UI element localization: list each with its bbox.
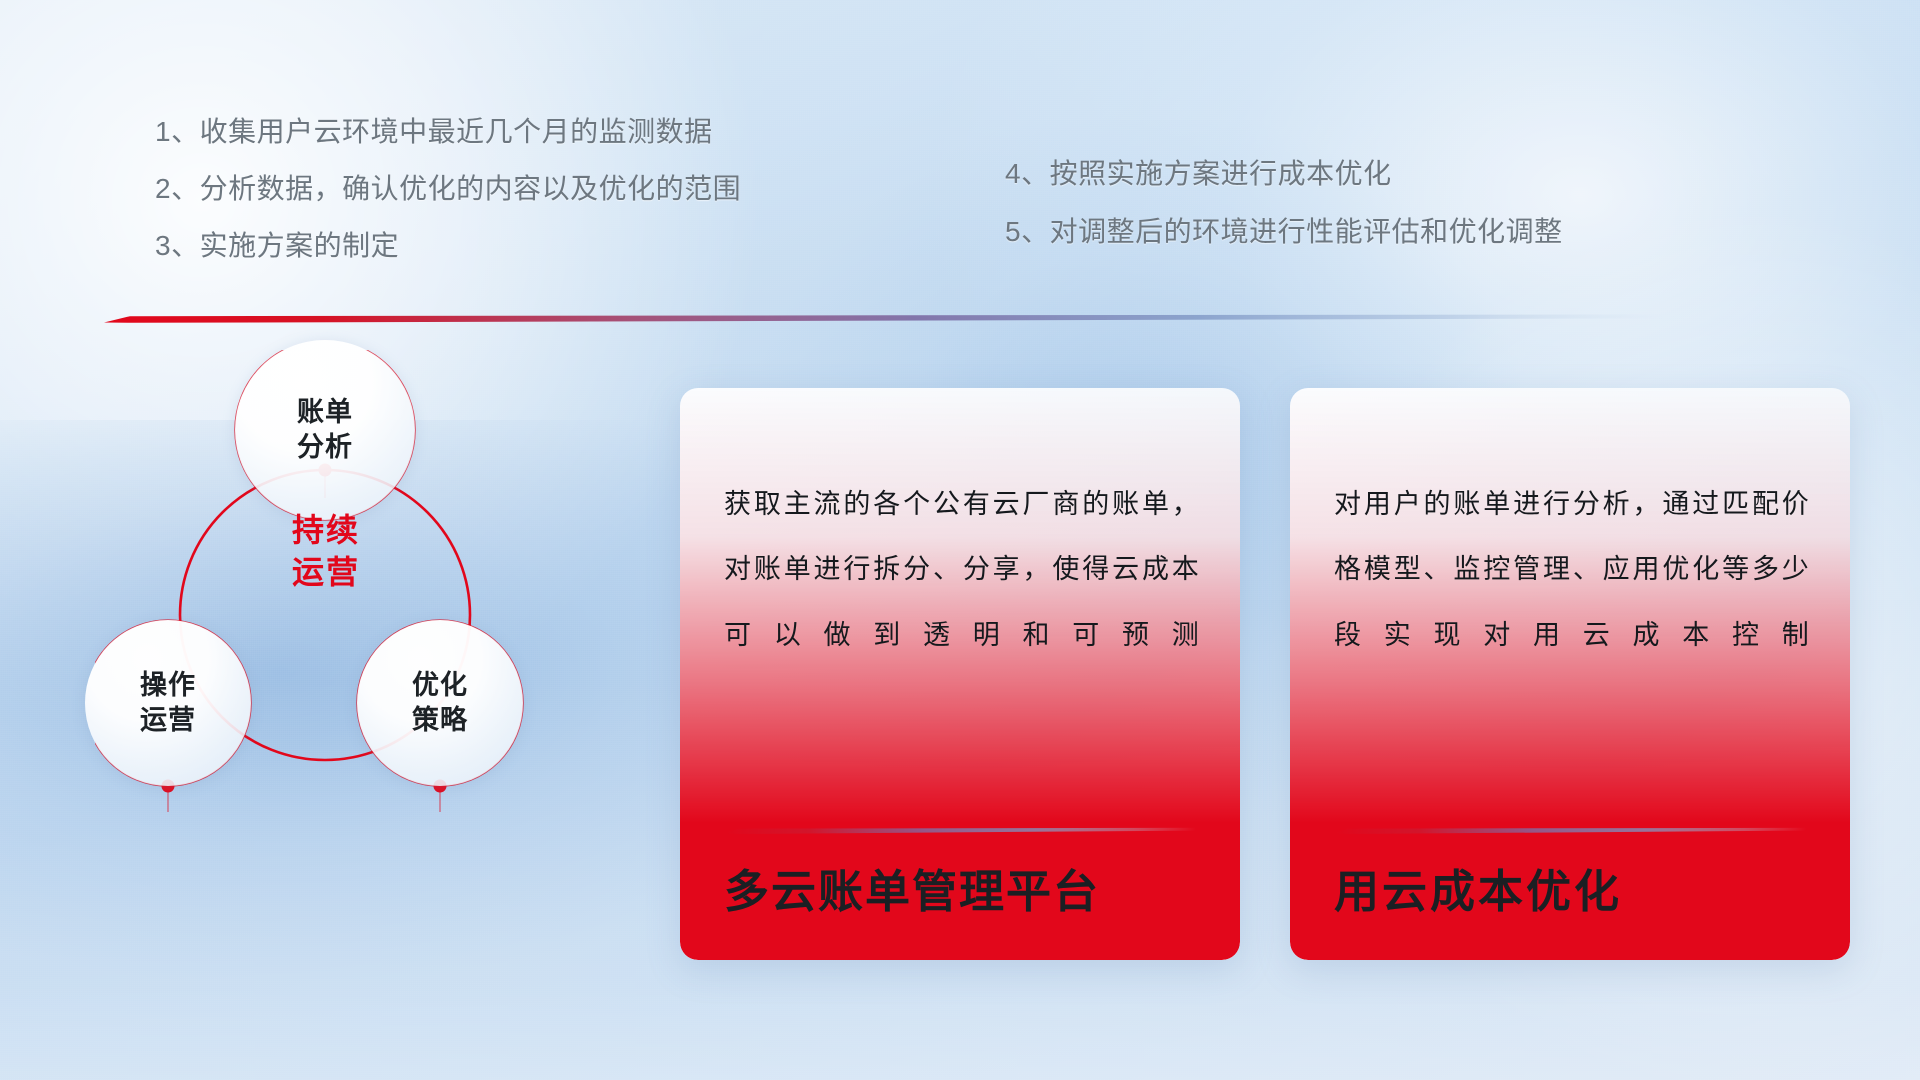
section-divider-shape	[104, 313, 1664, 325]
step-item-1: 1、收集用户云环境中最近几个月的监测数据	[155, 118, 741, 146]
diagram-node-br-line2: 策略	[412, 705, 468, 735]
step-item-2: 2、分析数据，确认优化的内容以及优化的范围	[155, 175, 741, 203]
card-multicloud-billing-platform[interactable]: 获取主流的各个公有云厂商的账单，对账单进行拆分、分享，使得云成本可以做到透明和可…	[680, 388, 1240, 960]
diagram-node-top-line2: 分析	[297, 432, 353, 462]
card-one-body: 获取主流的各个公有云厂商的账单，对账单进行拆分、分享，使得云成本可以做到透明和可…	[724, 472, 1200, 668]
card-one-rule-shape	[724, 827, 1196, 835]
diagram-node-optimization-strategy[interactable]: 优化策略	[357, 620, 523, 786]
continuous-operations-diagram: 账单分析 操作运营 优化策略 持续 运营	[95, 350, 655, 950]
slide-canvas: 1、收集用户云环境中最近几个月的监测数据 2、分析数据，确认优化的内容以及优化的…	[0, 0, 1920, 1080]
diagram-center-line2: 运营	[246, 552, 406, 594]
steps-list-left: 1、收集用户云环境中最近几个月的监测数据 2、分析数据，确认优化的内容以及优化的…	[155, 118, 741, 289]
card-two-body: 对用户的账单进行分析，通过匹配价格模型、监控管理、应用优化等多少段实现对用云成本…	[1334, 472, 1810, 668]
diagram-node-br-line1: 优化	[412, 670, 468, 700]
diagram-node-operations[interactable]: 操作运营	[85, 620, 251, 786]
diagram-node-br-text: 优化策略	[412, 668, 468, 737]
diagram-center-label: 持续 运营	[246, 510, 406, 593]
card-cloud-cost-optimization[interactable]: 对用户的账单进行分析，通过匹配价格模型、监控管理、应用优化等多少段实现对用云成本…	[1290, 388, 1850, 960]
diagram-node-top-text: 账单分析	[297, 395, 353, 464]
step-item-5: 5、对调整后的环境进行性能评估和优化调整	[1005, 218, 1563, 246]
diagram-node-bl-line1: 操作	[140, 670, 196, 700]
card-one-rule	[724, 822, 1196, 830]
diagram-center-line1: 持续	[246, 510, 406, 552]
diagram-node-bill-analysis[interactable]: 账单分析	[235, 340, 415, 520]
section-divider	[104, 313, 1664, 325]
card-two-rule-shape	[1334, 827, 1806, 835]
diagram-node-top-line1: 账单	[297, 397, 353, 427]
step-item-3: 3、实施方案的制定	[155, 232, 741, 260]
card-two-title: 用云成本优化	[1334, 864, 1806, 920]
diagram-node-bl-line2: 运营	[140, 705, 196, 735]
steps-list-right: 4、按照实施方案进行成本优化 5、对调整后的环境进行性能评估和优化调整	[1005, 160, 1563, 276]
card-two-rule	[1334, 822, 1806, 830]
card-one-title: 多云账单管理平台	[724, 864, 1196, 920]
diagram-node-bl-text: 操作运营	[140, 668, 196, 737]
step-item-4: 4、按照实施方案进行成本优化	[1005, 160, 1563, 188]
